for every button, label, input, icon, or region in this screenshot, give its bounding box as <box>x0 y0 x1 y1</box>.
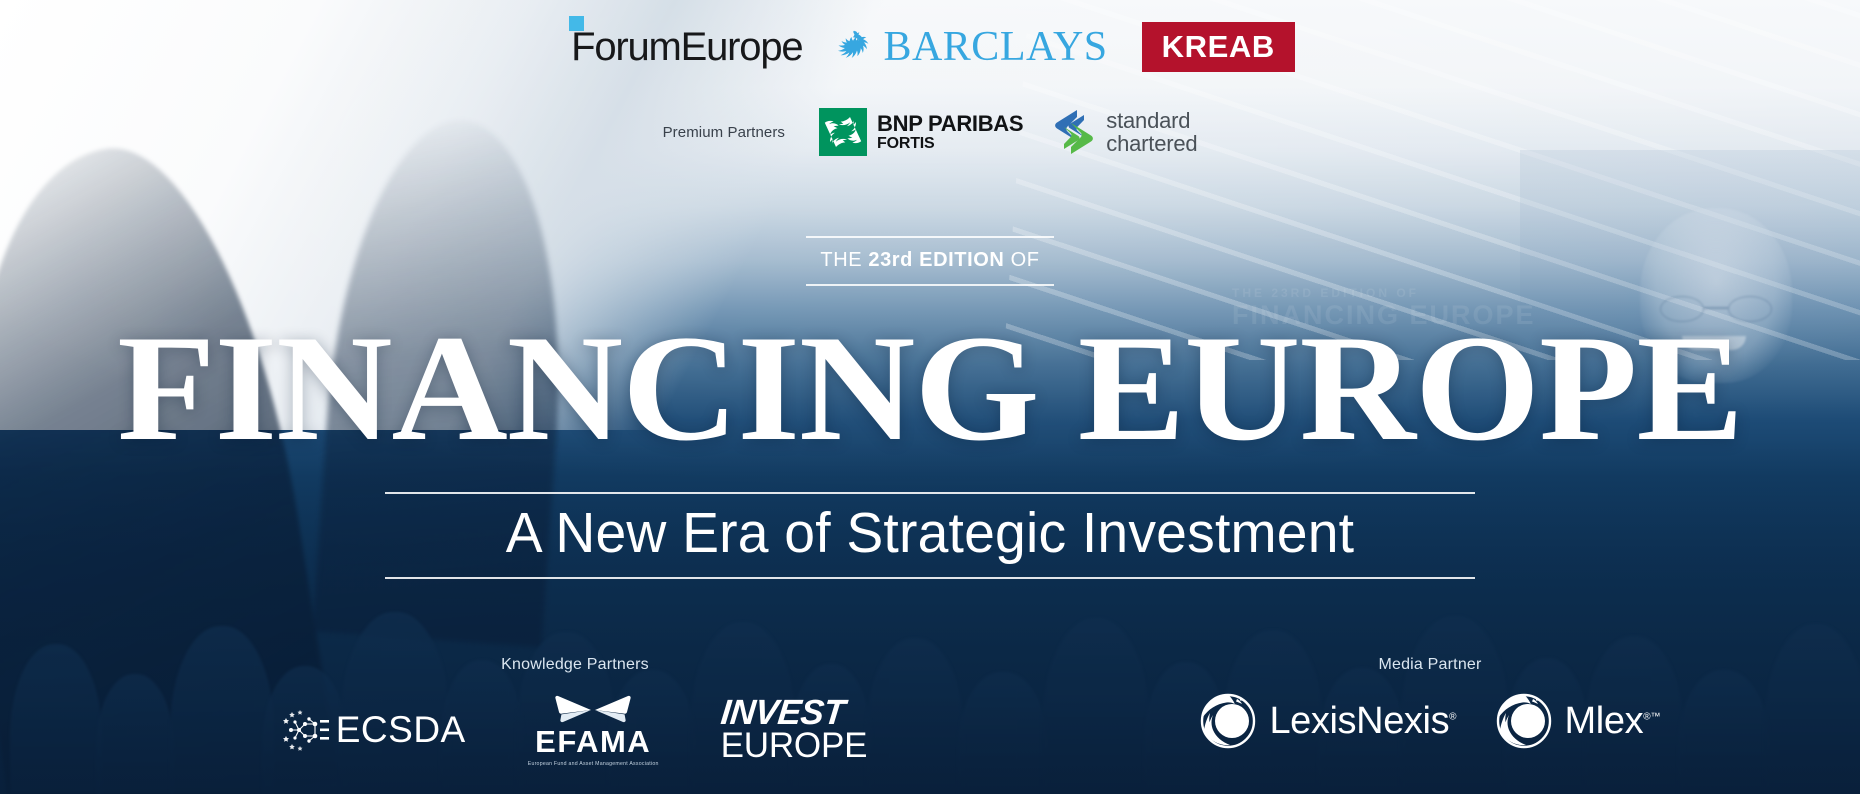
bnp-label-secondary: FORTIS <box>877 136 1023 152</box>
subtitle-box: A New Era of Strategic Investment <box>385 492 1475 579</box>
forum-europe-label: ForumEurope <box>571 25 802 69</box>
efama-tagline: European Fund and Asset Management Assoc… <box>528 761 659 767</box>
page-subtitle: A New Era of Strategic Investment <box>401 503 1458 565</box>
event-banner: the 23rd edition of Financing Europe <box>0 0 1860 794</box>
logo-barclays[interactable]: BARCLAYS <box>836 26 1107 68</box>
ecsda-label: ECSDA <box>336 711 466 748</box>
lexisnexis-registered-mark: ® <box>1449 711 1456 722</box>
mlex-registered-mark: ®™ <box>1643 711 1660 722</box>
ecsda-circuit-icon <box>283 708 329 752</box>
forum-europe-square-icon <box>569 16 584 31</box>
media-partner-label: Media Partner <box>1378 656 1481 674</box>
logo-kreab[interactable]: KREAB <box>1142 22 1295 72</box>
top-sponsor-row: ForumEurope BARCLAYS KREAB <box>0 22 1860 72</box>
lexisnexis-label: LexisNexis® <box>1269 702 1456 740</box>
logo-forum-europe[interactable]: ForumEurope <box>565 27 802 67</box>
logo-ecsda[interactable]: ECSDA <box>283 708 466 752</box>
premium-partners-row: Premium Partners BNP PARIBAS FORTIS <box>0 108 1860 156</box>
barclays-label: BARCLAYS <box>883 26 1107 68</box>
page-title: FINANCING EUROPE <box>0 316 1860 460</box>
edition-suffix: OF <box>1004 249 1039 271</box>
premium-partners-label: Premium Partners <box>663 124 785 141</box>
efama-bowtie-icon <box>550 692 636 724</box>
standard-chartered-label-2: chartered <box>1106 132 1197 155</box>
bnp-label-primary: BNP PARIBAS <box>877 113 1023 135</box>
invest-europe-label-1: INVEST <box>719 697 869 729</box>
media-partner-group: Media Partner LexisNexis® <box>1150 656 1860 767</box>
logo-mlex[interactable]: Mlex®™ <box>1495 692 1661 750</box>
lexisnexis-swirl-icon <box>1199 692 1257 750</box>
standard-chartered-chevron-icon <box>1053 109 1095 155</box>
page-title-wrap: FINANCING EUROPE <box>0 316 1860 460</box>
subtitle-wrap: A New Era of Strategic Investment <box>0 492 1860 579</box>
footer-partners: Knowledge Partners <box>0 656 1860 767</box>
logo-bnp-paribas-fortis[interactable]: BNP PARIBAS FORTIS <box>819 108 1023 156</box>
logo-lexisnexis[interactable]: LexisNexis® <box>1199 692 1456 750</box>
logo-efama[interactable]: EFAMA European Fund and Asset Management… <box>528 692 659 767</box>
knowledge-partners-group: Knowledge Partners <box>0 656 1150 767</box>
mlex-swirl-icon <box>1495 692 1553 750</box>
logo-standard-chartered[interactable]: standard chartered <box>1053 109 1197 155</box>
knowledge-partners-label: Knowledge Partners <box>501 656 649 674</box>
standard-chartered-label-1: standard <box>1106 109 1197 132</box>
barclays-eagle-icon <box>836 30 874 64</box>
efama-label: EFAMA <box>535 726 651 757</box>
edition-banner-wrap: THE 23rd EDITION OF <box>0 236 1860 286</box>
kreab-label: KREAB <box>1162 29 1275 64</box>
edition-emphasis: 23rd EDITION <box>868 249 1004 271</box>
edition-prefix: THE <box>820 249 868 271</box>
logo-invest-europe[interactable]: INVEST EUROPE <box>721 697 868 761</box>
invest-europe-label-2: EUROPE <box>721 730 868 762</box>
edition-banner: THE 23rd EDITION OF <box>806 236 1054 286</box>
bnp-stars-icon <box>819 108 867 156</box>
mlex-label: Mlex®™ <box>1565 702 1661 740</box>
